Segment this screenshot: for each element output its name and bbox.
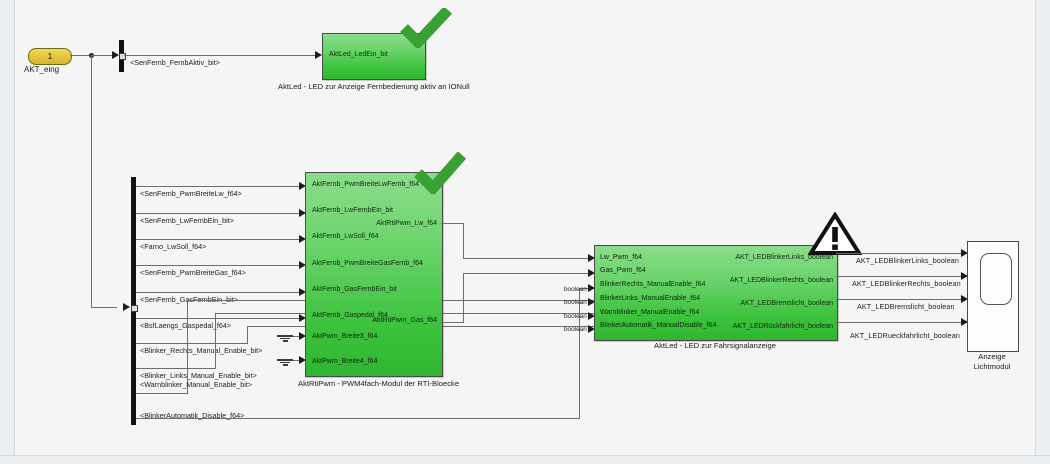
block-aktrtipwm-input-3: AktFernb_PwmBreiteGasFernb_f64 <box>312 260 423 267</box>
bus-signal-label-9: <Warnblinker_Manual_Enable_bit> <box>140 380 252 389</box>
wire-bus-7 <box>136 368 216 369</box>
bus-selector-main[interactable] <box>131 177 136 425</box>
block-aktled-fahrsignal-input-5: BlinkerAutomatik_ManualDisable_f64 <box>600 322 716 329</box>
bus-selector-main-arrow <box>123 303 130 311</box>
simulink-canvas[interactable]: 1 AKT_eing <SenFernb_FernbAktiv_bit> Akt… <box>0 0 1050 464</box>
block-aktrtipwm-input-6: AktPwm_Breite3_f64 <box>312 333 377 340</box>
block-aktled-fahrsignal-input-0: Lw_Pwm_f64 <box>600 254 642 261</box>
wire-bus-5 <box>136 318 304 319</box>
block-aktled-fahrsignal-output-3: AKT_LEDRückfahrlicht_boolean <box>733 323 833 330</box>
wire-lw-3 <box>463 258 594 259</box>
output-signal-label-2: AKT_LEDBremslicht_boolean <box>857 302 955 311</box>
type-annotation-1: boolean <box>564 299 587 306</box>
wire-bus-6 <box>136 343 248 344</box>
bus-signal-label-3: <Farno_LwSoll_f64> <box>140 242 206 251</box>
bus-signal-label-4: <SenFernb_PwmBreiteGas_f64> <box>140 268 246 277</box>
wire-gas-2 <box>463 273 464 323</box>
bus-selector-top-arrow <box>112 51 119 59</box>
wire-out-3 <box>836 322 967 323</box>
wire-bus-6-v <box>247 326 248 344</box>
inport-label: AKT_eing <box>24 65 59 74</box>
bus-signal-label-6: <BsfLaengs_Gaspedal_f64> <box>140 321 231 330</box>
type-annotation-0: boolean <box>564 286 587 293</box>
bus-signal-label-8: <Blinker_Links_Manual_Enable_bit> <box>140 371 257 380</box>
wire-bus-0 <box>136 186 304 187</box>
block-aktrtipwm-input-0: AktFernb_PwmBreiteLwFernb_f64 <box>312 181 419 188</box>
block-aktrtipwm-input-2: AktFernb_LwSoll_f64 <box>312 233 379 240</box>
block-aktled-ionull-caption: AktLed - LED zur Anzeige Fernbedienung a… <box>278 82 468 91</box>
wire-out-0 <box>836 253 967 254</box>
subsystem-inner-shape <box>980 253 1012 305</box>
block-aktled-fahrsignal[interactable]: Lw_Pwm_f64 Gas_Pwm_f64 BlinkerRechts_Man… <box>594 245 838 341</box>
bus-signal-label-7: <Blinker_Rechts_Manual_Enable_bit> <box>140 346 262 355</box>
wire-lw-1 <box>441 223 464 224</box>
wire-out-2 <box>836 299 967 300</box>
canvas-bottom-margin <box>0 455 1050 464</box>
block-aktled-ionull-input-0: AktLed_LedEin_bit <box>329 51 388 58</box>
block-aktrtipwm-output-0: AktRtiPwm_Lw_f64 <box>376 220 437 227</box>
wire-bus-9-v <box>579 288 580 419</box>
check-icon <box>398 8 454 48</box>
wire-to-bus-main <box>91 307 117 308</box>
block-aktled-fahrsignal-output-2: AKT_LEDBremslicht_boolean <box>740 300 833 307</box>
block-anzeige-caption-line1: Anzeige <box>957 352 1027 361</box>
wire-bus-1 <box>136 213 304 214</box>
check-icon-2 <box>412 152 468 194</box>
bus-signal-label-1: <SenFernb_PwmBreiteLw_f64> <box>140 189 242 198</box>
wire-gas-3 <box>463 273 594 274</box>
output-signal-label-1: AKT_LEDBlinkerRechts_boolean <box>852 279 961 288</box>
inport-number: 1 <box>48 52 52 61</box>
bus-signal-label-2: <SenFernb_LwFernbEin_bit> <box>140 216 234 225</box>
block-aktrtipwm-input-7: AktPwm_Breite4_f64 <box>312 358 377 365</box>
arrow-aktled-ionull-in <box>315 51 322 59</box>
block-aktrtipwm[interactable]: AktFernb_PwmBreiteLwFernb_f64 AktFernb_L… <box>305 172 443 377</box>
wire-bus-8 <box>136 393 188 394</box>
block-aktled-fahrsignal-input-1: Gas_Pwm_f64 <box>600 267 646 274</box>
block-aktrtipwm-output-1: AktRtiPwm_Gas_f64 <box>372 317 437 324</box>
block-aktrtipwm-input-4: AktFernb_GasFernbEin_bit <box>312 286 397 293</box>
wire-gas-1 <box>441 322 464 323</box>
ground-icon-2[interactable] <box>276 358 294 366</box>
inport-akt-eing[interactable]: 1 <box>28 48 72 65</box>
wire-out-1 <box>836 276 967 277</box>
block-aktrtipwm-caption: AktRtiPwm - PWM4fach-Modul der RTI-Bloec… <box>298 379 450 388</box>
output-signal-label-3: AKT_LEDRueckfahrlicht_boolean <box>850 331 960 340</box>
ground-icon-1[interactable] <box>276 334 294 342</box>
bus-selector-main-stub <box>131 305 138 312</box>
wire-bus-3 <box>136 265 304 266</box>
wire-inport-down <box>91 55 92 308</box>
wire-bus-2 <box>136 239 304 240</box>
output-signal-label-0: AKT_LEDBlinkerLinks_boolean <box>856 256 959 265</box>
canvas-right-margin <box>1035 0 1050 464</box>
wire-fernbaktiv <box>124 55 320 56</box>
block-anzeige-lichtmodul[interactable] <box>967 241 1019 352</box>
block-aktled-fahrsignal-input-2: BlinkerRechts_ManualEnable_f64 <box>600 281 705 288</box>
block-aktled-fahrsignal-caption: AktLed - LED zur Fahrsignalanzeige <box>640 341 790 350</box>
canvas-left-margin <box>0 0 15 464</box>
block-aktled-fahrsignal-input-3: BlinkerLinks_ManualEnable_f64 <box>600 295 700 302</box>
wire-bus-7-v <box>215 313 216 369</box>
wire-lw-2 <box>463 223 464 258</box>
type-annotation-3: boolean <box>564 326 587 333</box>
warning-icon <box>808 212 862 256</box>
type-annotation-2: boolean <box>564 313 587 320</box>
wire-bus-4 <box>136 292 304 293</box>
bus-signal-label-10: <BlinkerAutomatik_Disable_f64> <box>140 411 244 420</box>
block-aktled-fahrsignal-output-1: AKT_LEDBlinkerRechts_boolean <box>730 277 833 284</box>
block-aktrtipwm-input-1: AktFernb_LwFernbEin_bit <box>312 207 393 214</box>
block-aktled-fahrsignal-input-4: Warnblinker_ManualEnable_f64 <box>600 309 699 316</box>
block-anzeige-caption-line2: Lichtmodul <box>957 362 1027 371</box>
bus-signal-label-0: <SenFernb_FernbAktiv_bit> <box>130 58 220 67</box>
